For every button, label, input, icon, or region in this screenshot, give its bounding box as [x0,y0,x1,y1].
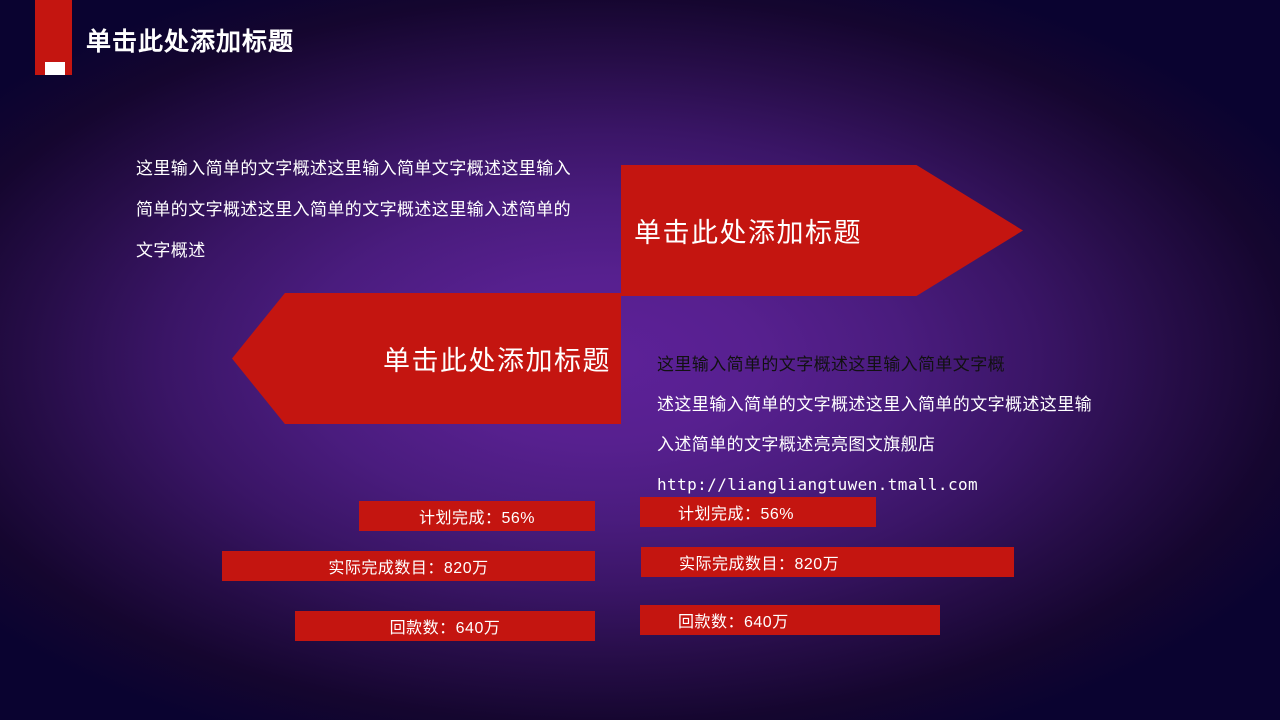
left-arrow-banner[interactable]: 单击此处添加标题 [232,293,621,424]
right-paragraph-light: 述这里输入简单的文字概述这里入简单的文字概述这里输入述简单的文字概述亮亮图文旗舰… [657,385,1093,465]
stat-badge-left-actual[interactable]: 实际完成数目：820万 [222,551,595,581]
right-arrow-banner-label: 单击此处添加标题 [634,211,862,250]
slide-canvas: 单击此处添加标题 这里输入简单的文字概述这里输入简单文字概述这里输入简单的文字概… [0,0,1280,720]
right-arrow-banner[interactable]: 单击此处添加标题 [621,165,1023,296]
stat-badge-left-plan[interactable]: 计划完成：56% [359,501,595,531]
right-paragraph: 这里输入简单的文字概述这里输入简单文字概 述这里输入简单的文字概述这里入简单的文… [657,345,1093,505]
stat-badge-right-plan[interactable]: 计划完成：56% [640,497,876,527]
right-paragraph-dark: 这里输入简单的文字概述这里输入简单文字概 [657,345,1093,385]
header-accent-notch [45,62,65,75]
stat-badge-right-actual[interactable]: 实际完成数目：820万 [641,547,1014,577]
left-paragraph: 这里输入简单的文字概述这里输入简单文字概述这里输入简单的文字概述这里入简单的文字… [136,148,582,271]
left-arrow-banner-label: 单击此处添加标题 [383,339,611,378]
stat-badge-left-payback[interactable]: 回款数：640万 [295,611,595,641]
stat-badge-right-payback[interactable]: 回款数：640万 [640,605,940,635]
page-title: 单击此处添加标题 [86,22,294,58]
